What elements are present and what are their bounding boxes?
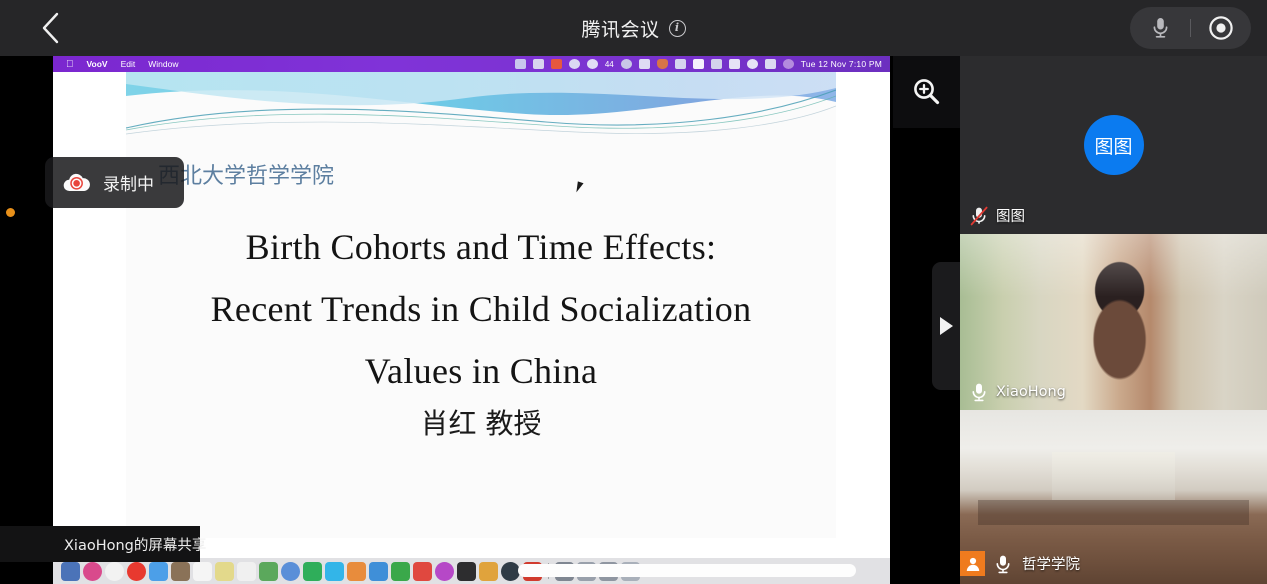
dock-item-books[interactable] bbox=[479, 562, 498, 581]
zoom-in-button[interactable] bbox=[893, 56, 960, 128]
search-icon[interactable] bbox=[747, 59, 758, 69]
recording-badge[interactable]: 录制中 bbox=[45, 157, 184, 208]
chevron-left-icon bbox=[39, 11, 61, 45]
recording-label: 录制中 bbox=[103, 170, 154, 195]
participant-tile[interactable]: 图图 图图 bbox=[960, 56, 1267, 234]
microphone-icon bbox=[994, 554, 1013, 574]
slide-wave-decoration bbox=[126, 72, 836, 150]
display-icon[interactable] bbox=[675, 59, 686, 69]
menu-item-window[interactable]: Window bbox=[148, 59, 178, 69]
dock-item-siri[interactable] bbox=[83, 562, 102, 581]
participant-name: 图图 bbox=[996, 205, 1025, 226]
dock-item-mail[interactable] bbox=[149, 562, 168, 581]
mac-menu-bar:  VooV Edit Window 44 bbox=[53, 56, 890, 72]
mic-button[interactable] bbox=[1130, 7, 1190, 49]
microphone-icon bbox=[970, 382, 989, 402]
shared-mac-desktop:  VooV Edit Window 44 bbox=[53, 56, 890, 584]
wechat-icon[interactable] bbox=[587, 59, 598, 69]
magnifier-plus-icon bbox=[910, 75, 944, 109]
mac-clock[interactable]: Tue 12 Nov 7:10 PM bbox=[801, 59, 882, 69]
microphone-icon bbox=[1151, 16, 1170, 40]
dock-item-reminders[interactable] bbox=[237, 562, 256, 581]
info-circle-icon[interactable]: i bbox=[669, 20, 686, 37]
dock-item-music[interactable] bbox=[413, 562, 432, 581]
presentation-slide: 西北大学哲学学院 Birth Cohorts and Time Effects:… bbox=[126, 72, 836, 538]
dock-item-maps[interactable] bbox=[259, 562, 278, 581]
menu-item-voov[interactable]: VooV bbox=[87, 59, 108, 69]
participant-tile[interactable]: 哲学学院 bbox=[960, 410, 1267, 584]
slide-title: Birth Cohorts and Time Effects: Recent T… bbox=[126, 216, 836, 402]
keyboard-icon[interactable] bbox=[711, 59, 722, 69]
slide-title-line-2: Recent Trends in Child Socialization bbox=[126, 278, 836, 340]
globe-icon[interactable] bbox=[621, 59, 632, 69]
participant-name-row: 哲学学院 bbox=[960, 551, 1080, 576]
meeting-title-group: 腾讯会议 i bbox=[0, 0, 1267, 56]
input-source-icon[interactable] bbox=[693, 59, 704, 69]
back-button[interactable] bbox=[28, 6, 72, 50]
shield-icon[interactable] bbox=[657, 59, 668, 69]
dock-item-photos[interactable] bbox=[281, 562, 300, 581]
mouse-cursor-icon bbox=[574, 181, 583, 193]
mac-menu-status-icons: 44 Tue 12 Nov 7:10 PM bbox=[515, 59, 890, 69]
meeting-window: 腾讯会议 i bbox=[0, 0, 1267, 584]
participant-rail: 图图 图图 XiaoH bbox=[960, 56, 1267, 584]
dock-item-contacts[interactable] bbox=[171, 562, 190, 581]
controlcenter-icon[interactable] bbox=[765, 59, 776, 69]
status-dot bbox=[6, 208, 15, 217]
dock-item-podcasts[interactable] bbox=[435, 562, 454, 581]
screen-share-bar: XiaoHong的屏幕共享 bbox=[0, 526, 200, 562]
dock-item-finder[interactable] bbox=[61, 562, 80, 581]
participant-name-row: XiaoHong bbox=[970, 382, 1066, 402]
apple-logo-icon:  bbox=[66, 59, 74, 70]
dock-item-messages[interactable] bbox=[303, 562, 322, 581]
shared-screen-stage[interactable]:  VooV Edit Window 44 bbox=[0, 56, 960, 584]
cloud-record-icon bbox=[61, 171, 93, 195]
weather-icon[interactable] bbox=[515, 59, 526, 69]
host-badge bbox=[960, 551, 985, 576]
mac-menu-items:  VooV Edit Window bbox=[53, 59, 178, 70]
at-icon[interactable] bbox=[569, 59, 580, 69]
person-icon bbox=[965, 556, 981, 572]
record-button[interactable] bbox=[1191, 7, 1251, 49]
slide-title-line-1: Birth Cohorts and Time Effects: bbox=[126, 216, 836, 278]
printer-icon[interactable] bbox=[533, 59, 544, 69]
microphone-muted-icon bbox=[970, 206, 989, 226]
avatar: 图图 bbox=[1084, 115, 1144, 175]
battery-count: 44 bbox=[605, 60, 614, 69]
dock-item-keynote[interactable] bbox=[391, 562, 410, 581]
panel-collapse-handle[interactable] bbox=[932, 262, 960, 390]
dock-item-calendar[interactable] bbox=[193, 562, 212, 581]
dock-item-appletv[interactable] bbox=[457, 562, 476, 581]
top-controls bbox=[1130, 7, 1251, 49]
participant-name: XiaoHong bbox=[996, 384, 1066, 400]
dock-item-pages[interactable] bbox=[347, 562, 366, 581]
record-circle-icon bbox=[1208, 15, 1234, 41]
dock-item-facetime[interactable] bbox=[325, 562, 344, 581]
dock-loading-bar bbox=[518, 564, 856, 577]
menu-item-edit[interactable]: Edit bbox=[121, 59, 136, 69]
page-title: 腾讯会议 bbox=[581, 15, 659, 42]
top-bar: 腾讯会议 i bbox=[0, 0, 1267, 56]
participant-name: 哲学学院 bbox=[1022, 553, 1080, 574]
slide-author: 肖红 教授 bbox=[126, 402, 836, 442]
screen-share-label: XiaoHong的屏幕共享 bbox=[64, 534, 206, 555]
wifi-icon[interactable] bbox=[729, 59, 740, 69]
siri-icon[interactable] bbox=[783, 59, 794, 69]
binoculars-icon[interactable] bbox=[639, 59, 650, 69]
dock-item-notes[interactable] bbox=[215, 562, 234, 581]
dock-item-chrome[interactable] bbox=[105, 562, 124, 581]
slide-title-line-3: Values in China bbox=[126, 340, 836, 402]
dock-item-opera[interactable] bbox=[127, 562, 146, 581]
participant-tile[interactable]: XiaoHong bbox=[960, 234, 1267, 410]
todo-icon[interactable] bbox=[551, 59, 562, 69]
triangle-right-icon bbox=[940, 317, 953, 335]
participant-name-row: 图图 bbox=[970, 205, 1025, 226]
dock-item-numbers[interactable] bbox=[369, 562, 388, 581]
slide-organization: 西北大学哲学学院 bbox=[158, 158, 334, 190]
